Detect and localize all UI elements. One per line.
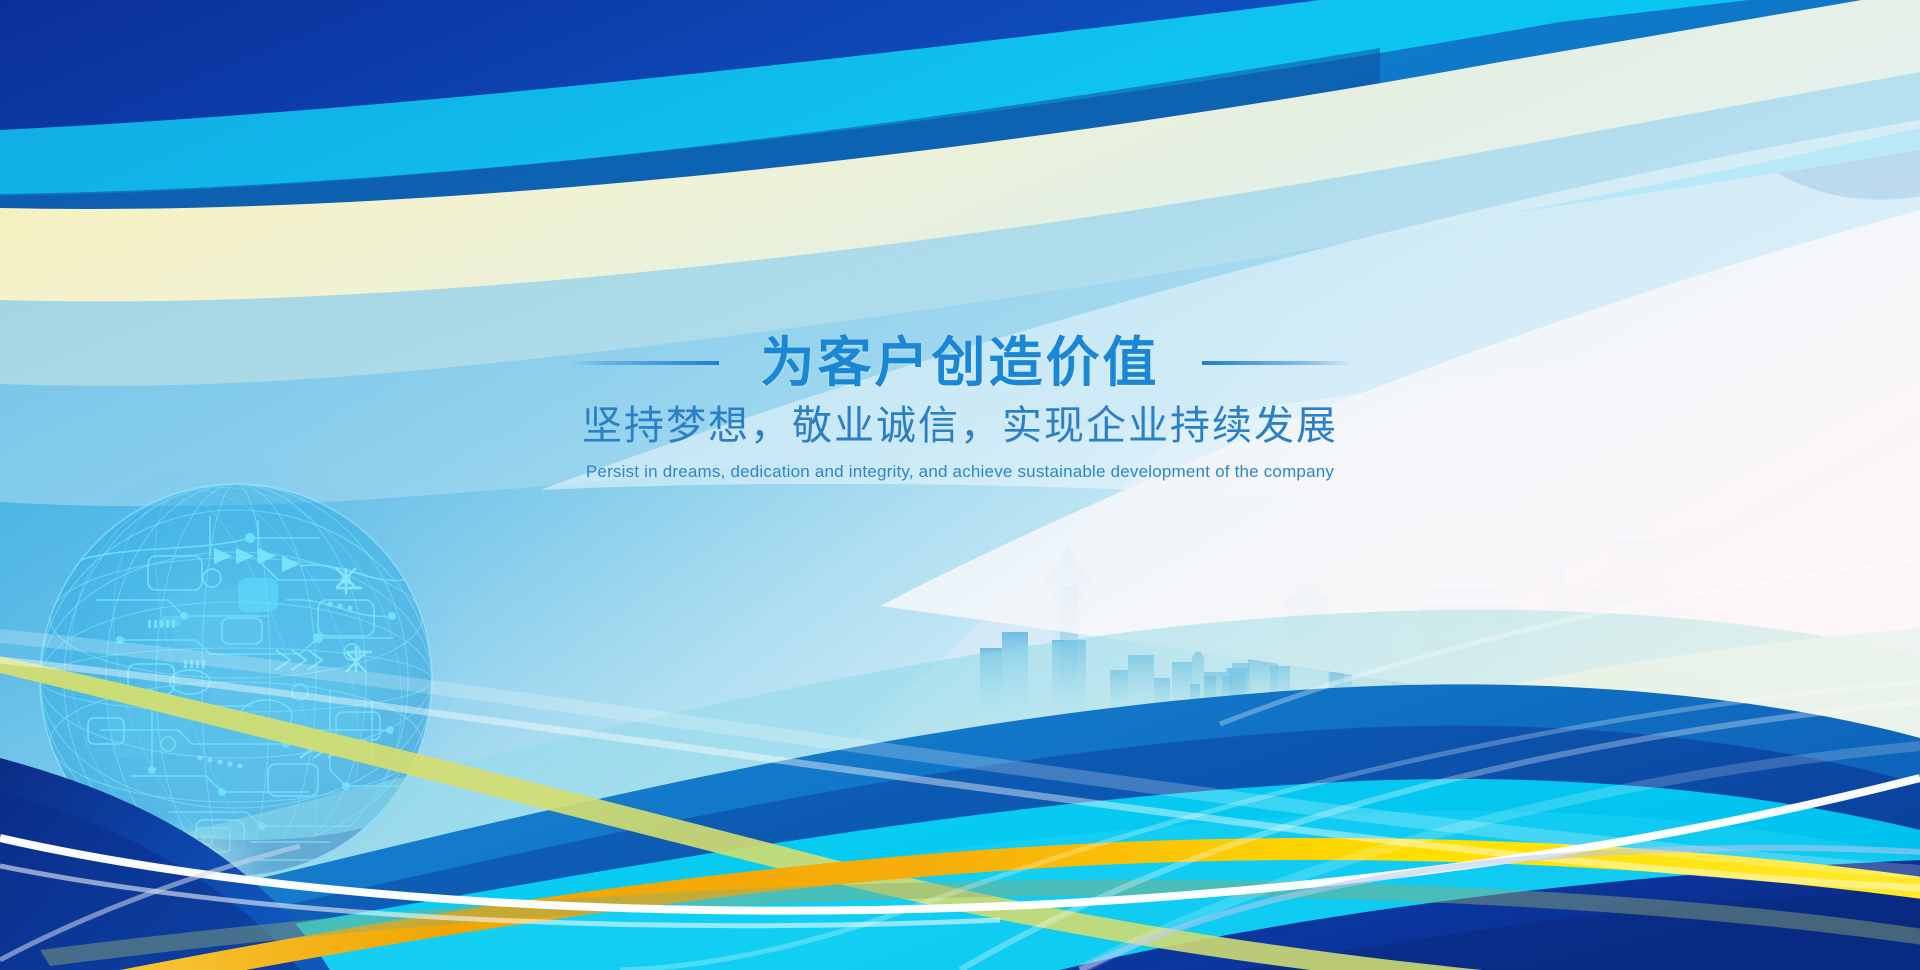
corporate-banner: 为客户创造价值 坚持梦想，敬业诚信，实现企业持续发展 Persist in dr… [0,0,1920,970]
white-curve-accents [0,0,1920,970]
